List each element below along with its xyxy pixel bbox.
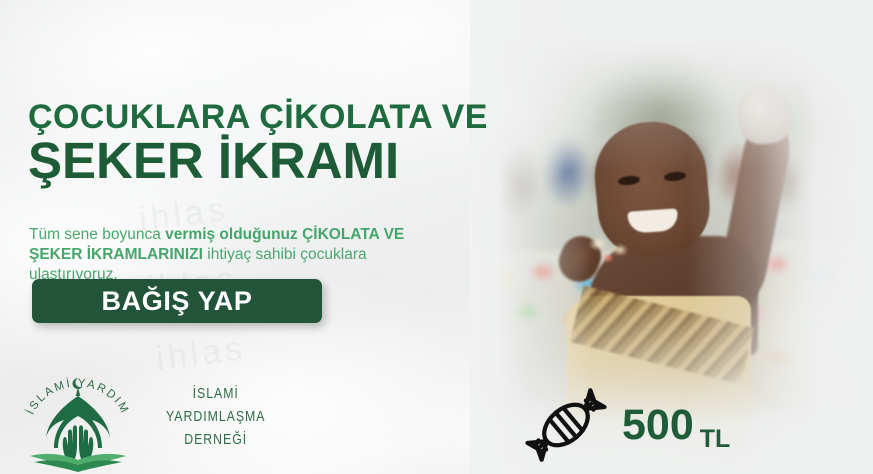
candy-icon — [518, 386, 614, 464]
headline: ÇOCUKLARA ÇİKOLATA VE ŞEKER İKRAMI — [28, 98, 488, 188]
organization-name-line-2: YARDIMLAŞMA — [166, 405, 265, 428]
price-block: 500 TL — [518, 386, 730, 464]
donation-banner: ihlas ihlas ihlas ÇOCUKLARA ÇİKOLATA VE … — [0, 0, 873, 474]
organization-logo-icon: İSLAMİ YARDIM — [16, 360, 140, 472]
headline-line-1: ÇOCUKLARA ÇİKOLATA VE — [28, 98, 488, 136]
price-amount: 500 — [622, 404, 694, 447]
donate-button[interactable]: BAĞIŞ YAP — [32, 279, 322, 323]
brand-lockup: İSLAMİ YARDIM İSLAMİ YARDIMLAŞMA — [16, 358, 316, 474]
price-currency: TL — [700, 418, 731, 464]
headline-line-2: ŞEKER İKRAMI — [28, 134, 488, 188]
body-copy: Tüm sene boyunca vermiş olduğunuz ÇİKOLA… — [29, 225, 459, 285]
body-copy-prefix: Tüm sene boyunca — [29, 226, 165, 243]
organization-name-line-1: İSLAMİ — [166, 382, 265, 405]
organization-name-line-3: DERNEĞİ — [166, 428, 265, 451]
organization-name: İSLAMİ YARDIMLAŞMA DERNEĞİ — [166, 382, 265, 451]
